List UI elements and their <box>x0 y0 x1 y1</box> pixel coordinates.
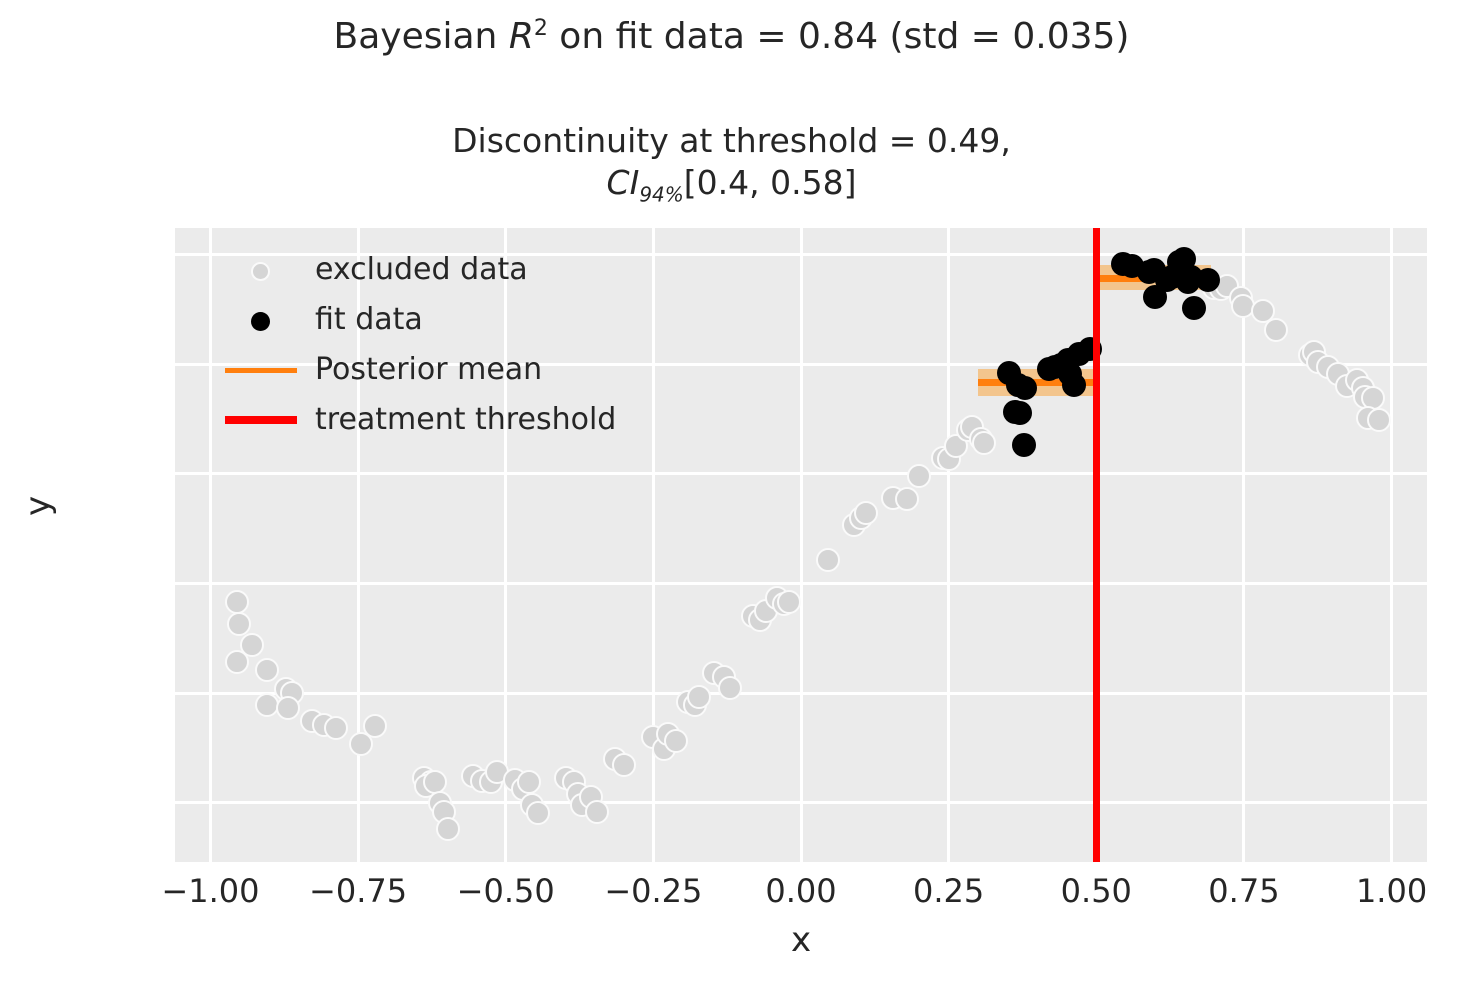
x-tick-label: −0.75 <box>278 872 438 910</box>
x-tick-label: 0.50 <box>1016 872 1176 910</box>
x-tick-label: 1.00 <box>1312 872 1463 910</box>
x-tick-label: 0.75 <box>1164 872 1324 910</box>
x-axis-label: x <box>175 920 1427 960</box>
x-tick-label: −0.50 <box>426 872 586 910</box>
x-tick-label: −1.00 <box>130 872 290 910</box>
x-tick-label: −0.25 <box>573 872 733 910</box>
x-tick-label: 0.25 <box>869 872 1029 910</box>
x-axis-ticks: −1.00−0.75−0.50−0.250.000.250.500.751.00 <box>0 0 1463 983</box>
y-axis-label: y <box>18 496 58 516</box>
figure-canvas: Bayesian R2 on fit data = 0.84 (std = 0.… <box>0 0 1463 983</box>
x-tick-label: 0.00 <box>721 872 881 910</box>
